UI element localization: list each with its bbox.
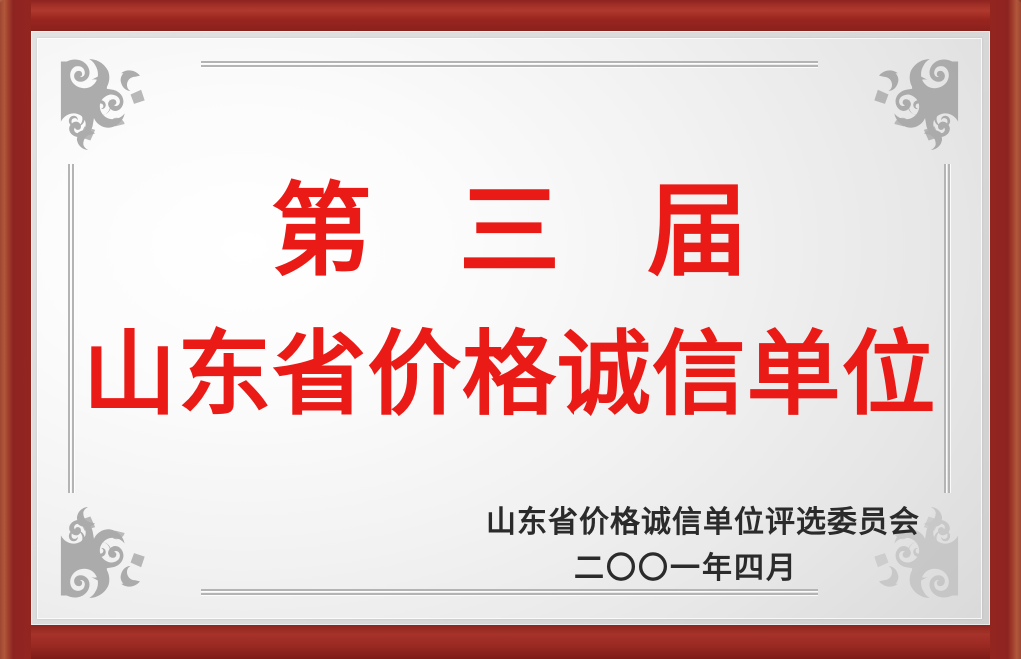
- issue-date: 二〇〇一年四月: [486, 550, 886, 588]
- corner-flourish-icon: [846, 52, 964, 170]
- certificate-panel: 第 三 届 山东省价格诚信单位 山东省价格诚信单位评选委员会 二〇〇一年四月: [37, 38, 982, 619]
- frame-edge-bottom: [0, 625, 1021, 659]
- award-plaque: 第 三 届 山东省价格诚信单位 山东省价格诚信单位评选委员会 二〇〇一年四月: [0, 0, 1021, 659]
- award-title-line-2: 山东省价格诚信单位: [37, 326, 982, 423]
- corner-flourish-icon: [55, 52, 173, 170]
- rule-line-top: [201, 61, 818, 68]
- rule-line-bottom: [201, 589, 818, 596]
- award-title-line-1: 第 三 届: [37, 178, 982, 284]
- corner-flourish-icon: [55, 487, 173, 605]
- frame-edge-left: [0, 0, 31, 659]
- signature-block: 山东省价格诚信单位评选委员会 二〇〇一年四月: [486, 504, 886, 589]
- frame-edge-right: [990, 0, 1021, 659]
- frame-edge-top: [0, 0, 1021, 31]
- issuing-organization: 山东省价格诚信单位评选委员会: [486, 504, 886, 542]
